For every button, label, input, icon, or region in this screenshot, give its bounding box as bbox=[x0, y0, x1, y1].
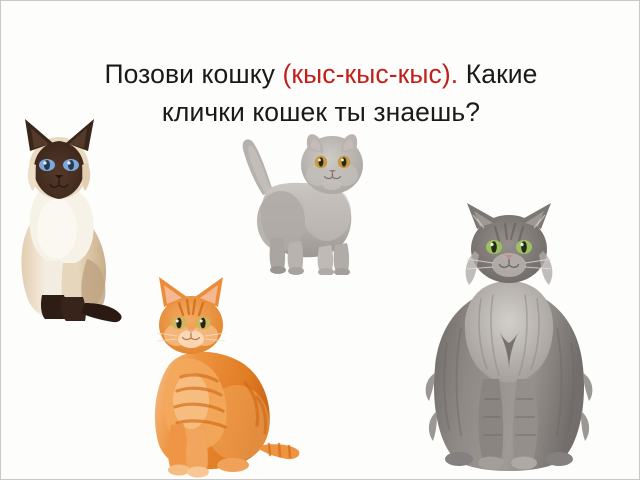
longhair-grey-cat-illustration bbox=[421, 203, 597, 479]
cat-image-longhair-grey bbox=[421, 203, 597, 479]
prompt-segment-2: Какие bbox=[458, 59, 537, 89]
prompt-segment-1: Позови кошку bbox=[104, 59, 282, 89]
siamese-cat-illustration bbox=[9, 113, 125, 325]
cat-image-grey-kitten bbox=[229, 129, 377, 275]
slide-canvas: Позови кошку (кыс-кыс-кыс). Какие клички… bbox=[0, 0, 640, 480]
ginger-tabby-illustration bbox=[129, 273, 301, 479]
prompt-line-2: клички кошек ты знаешь? bbox=[162, 97, 480, 127]
prompt-highlight: (кыс-кыс-кыс). bbox=[283, 59, 459, 89]
british-shorthair-kitten-illustration bbox=[229, 129, 377, 275]
cat-image-ginger-tabby bbox=[129, 273, 301, 479]
cat-image-siamese bbox=[9, 113, 125, 325]
